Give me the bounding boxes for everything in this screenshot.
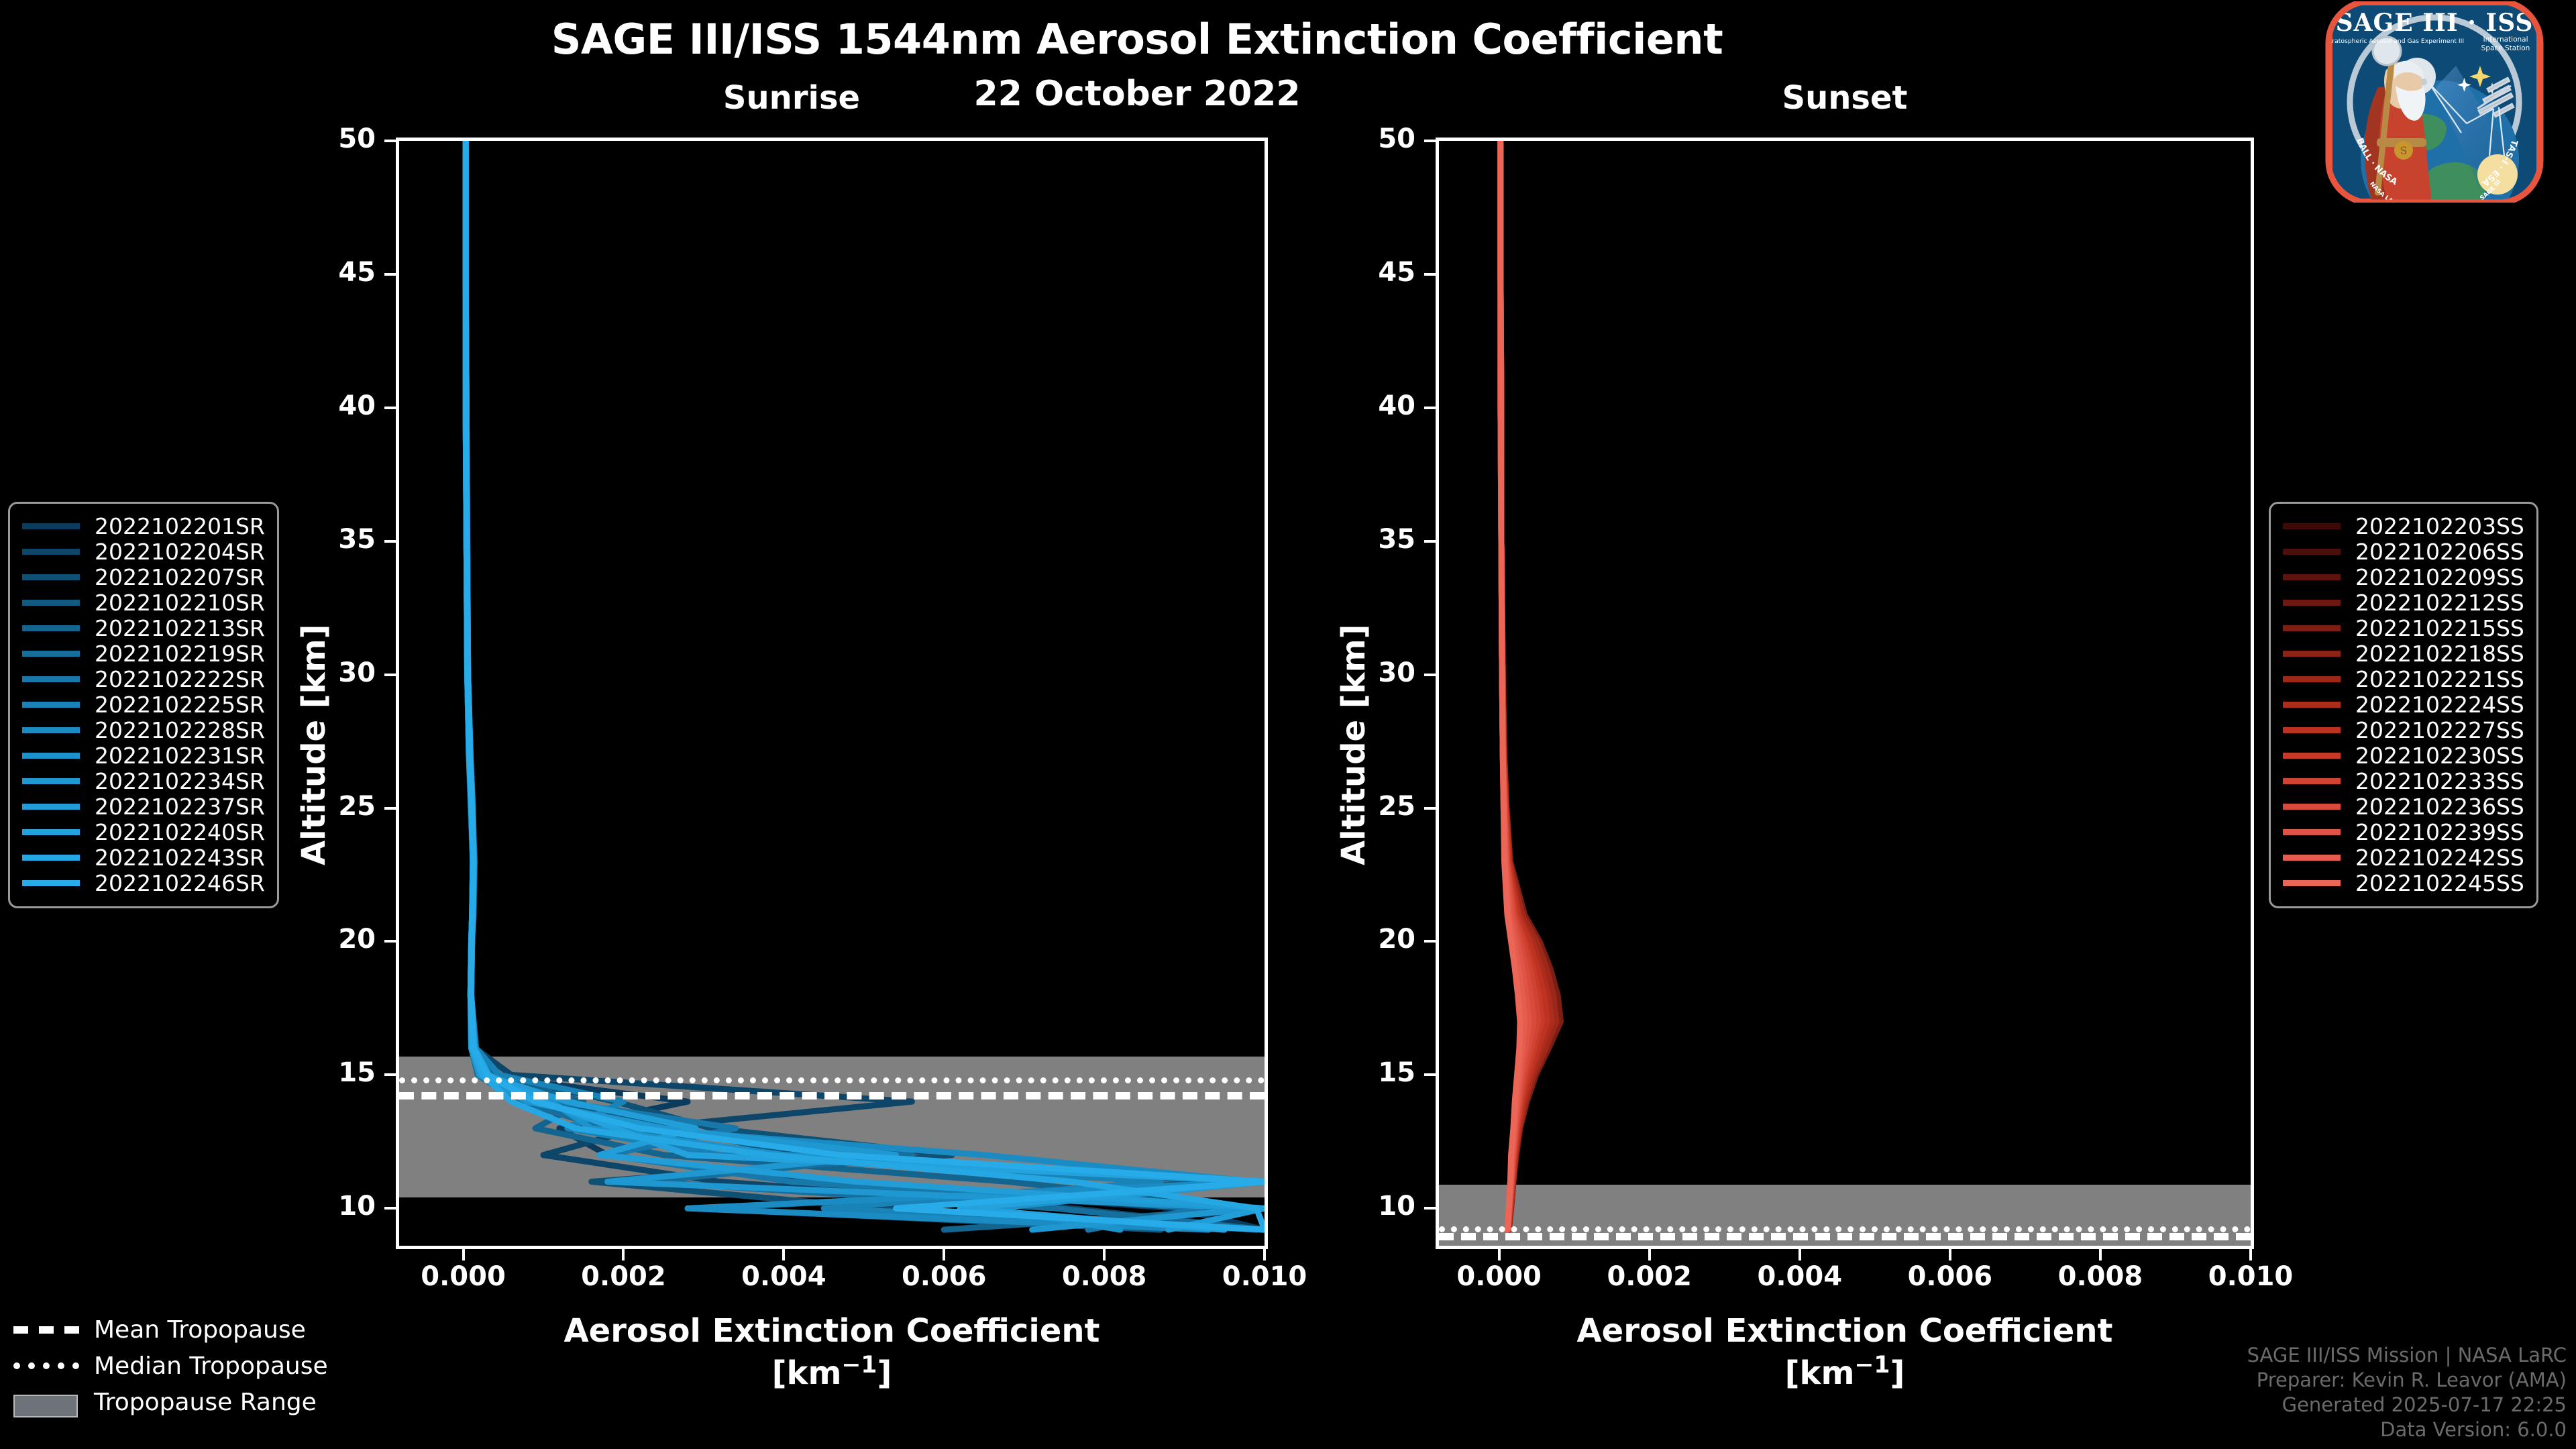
sunset-mean-tropopause-line	[1439, 1233, 2251, 1240]
sunset-legend-item[interactable]: 2022102224SS	[2283, 692, 2524, 717]
line-swatch-icon	[2283, 855, 2341, 861]
sunset-legend-item[interactable]: 2022102236SS	[2283, 794, 2524, 819]
y-axis-tick-label: 40	[309, 390, 376, 421]
legend-row-median-tropopause: Median Tropopause	[13, 1348, 328, 1384]
profile-line	[466, 141, 1265, 1230]
sunrise-legend-label: 2022102234SR	[95, 768, 265, 794]
sunset-legend-label: 2022102206SS	[2355, 539, 2524, 565]
profile-line	[466, 141, 1265, 1230]
sunset-legend-label: 2022102239SS	[2355, 819, 2524, 845]
sunrise-legend-item[interactable]: 2022102210SR	[22, 590, 265, 615]
sunset-legend-item[interactable]: 2022102218SS	[2283, 641, 2524, 666]
sunrise-legend-item[interactable]: 2022102243SR	[22, 845, 265, 870]
sunrise-legend-label: 2022102243SR	[95, 845, 265, 871]
profile-line	[466, 141, 1200, 1230]
profile-line	[466, 141, 1256, 1230]
line-swatch-icon	[22, 702, 80, 708]
x-axis-tick-mark	[1263, 1249, 1266, 1260]
line-swatch-icon	[2283, 676, 2341, 682]
line-swatch-icon	[2283, 880, 2341, 886]
sunset-legend-item[interactable]: 2022102227SS	[2283, 717, 2524, 743]
sunrise-x-axis-units: [km−1]	[396, 1351, 1268, 1393]
sunset-y-axis-title: Altitude [km]	[1335, 624, 1373, 865]
y-axis-tick-mark	[384, 1073, 396, 1076]
line-swatch-icon	[22, 523, 80, 529]
credits-generated: Generated 2025-07-17 22:25	[2247, 1393, 2567, 1417]
sunset-legend-item[interactable]: 2022102230SS	[2283, 743, 2524, 768]
sunrise-event-legend[interactable]: 2022102201SR2022102204SR2022102207SR2022…	[8, 502, 279, 908]
line-swatch-icon	[22, 880, 80, 886]
x-axis-tick-mark	[2099, 1249, 2102, 1260]
sunset-x-axis-title-line1: Aerosol Extinction Coefficient	[1436, 1311, 2254, 1351]
profile-line	[466, 141, 1265, 1230]
y-axis-tick-label: 40	[1348, 390, 1415, 421]
credits-preparer: Preparer: Kevin R. Leavor (AMA)	[2247, 1368, 2567, 1393]
credits-mission: SAGE III/ISS Mission | NASA LaRC	[2247, 1343, 2567, 1368]
line-swatch-icon	[22, 574, 80, 580]
sunrise-x-axis-title: Aerosol Extinction Coefficient [km−1]	[396, 1311, 1268, 1393]
y-axis-tick-mark	[1424, 140, 1436, 142]
line-swatch-icon	[2283, 549, 2341, 555]
x-axis-tick-label: 0.008	[2027, 1261, 2174, 1292]
sunset-x-axis-units: [km−1]	[1436, 1351, 2254, 1393]
x-axis-tick-mark	[1949, 1249, 1951, 1260]
x-axis-tick-label: 0.000	[390, 1261, 537, 1292]
sunrise-legend-item[interactable]: 2022102246SR	[22, 870, 265, 896]
y-axis-tick-label: 35	[1348, 524, 1415, 555]
patch-subtitle-left: Stratospheric Aerosol and Gas Experiment…	[2326, 38, 2464, 45]
profile-line	[466, 141, 1265, 1230]
y-axis-tick-mark	[1424, 540, 1436, 543]
sunrise-legend-item[interactable]: 2022102231SR	[22, 743, 265, 768]
x-axis-tick-label: 0.002	[549, 1261, 697, 1292]
sunrise-legend-label: 2022102222SR	[95, 666, 265, 692]
sunset-legend-item[interactable]: 2022102209SS	[2283, 564, 2524, 590]
sunset-legend-item[interactable]: 2022102239SS	[2283, 819, 2524, 845]
line-swatch-icon	[22, 727, 80, 733]
sunset-legend-label: 2022102218SS	[2355, 641, 2524, 667]
patch-subtitle-right-line1: International	[2483, 36, 2528, 44]
sage-iii-iss-mission-patch-icon: S SAGE III · ISS Stratospheric Aerosol a…	[2298, 1, 2571, 203]
legend-label-tropopause-range: Tropopause Range	[94, 1389, 317, 1416]
y-axis-tick-mark	[1424, 1207, 1436, 1210]
sunset-legend-label: 2022102245SS	[2355, 870, 2524, 896]
sunrise-legend-item[interactable]: 2022102204SR	[22, 539, 265, 564]
profile-line	[466, 141, 1256, 1230]
sunrise-legend-item[interactable]: 2022102240SR	[22, 819, 265, 845]
sunrise-legend-label: 2022102201SR	[95, 513, 265, 539]
sunset-legend-label: 2022102221SS	[2355, 666, 2524, 692]
sunrise-legend-label: 2022102219SR	[95, 641, 265, 667]
filled-band-icon	[13, 1395, 79, 1409]
y-axis-tick-mark	[384, 674, 396, 676]
x-axis-tick-mark	[943, 1249, 945, 1260]
y-axis-tick-mark	[1424, 273, 1436, 276]
credits-block: SAGE III/ISS Mission | NASA LaRC Prepare…	[2247, 1343, 2567, 1442]
sunrise-legend-label: 2022102204SR	[95, 539, 265, 565]
patch-subtitle-right-line2: Space Station	[2481, 44, 2530, 52]
sunrise-legend-item[interactable]: 2022102219SR	[22, 641, 265, 666]
sunset-legend-label: 2022102215SS	[2355, 615, 2524, 641]
x-axis-tick-label: 0.008	[1030, 1261, 1178, 1292]
y-axis-tick-label: 15	[309, 1057, 376, 1088]
sunrise-legend-item[interactable]: 2022102228SR	[22, 717, 265, 743]
x-axis-tick-label: 0.006	[870, 1261, 1018, 1292]
line-swatch-icon	[2283, 753, 2341, 759]
sunrise-legend-label: 2022102228SR	[95, 717, 265, 743]
x-axis-tick-mark	[1498, 1249, 1501, 1260]
y-axis-tick-mark	[384, 807, 396, 810]
sunset-legend-item[interactable]: 2022102245SS	[2283, 870, 2524, 896]
sunrise-legend-label: 2022102210SR	[95, 590, 265, 616]
line-swatch-icon	[2283, 600, 2341, 606]
y-axis-tick-mark	[384, 273, 396, 276]
line-swatch-icon	[2283, 829, 2341, 835]
legend-row-tropopause-range: Tropopause Range	[13, 1384, 328, 1420]
profile-line	[1501, 141, 1520, 1230]
sunrise-legend-label: 2022102240SR	[95, 819, 265, 845]
line-swatch-icon	[2283, 574, 2341, 580]
y-axis-tick-label: 10	[1348, 1191, 1415, 1222]
x-axis-tick-label: 0.010	[2177, 1261, 2324, 1292]
y-axis-tick-label: 50	[1348, 123, 1415, 154]
sunrise-legend-item[interactable]: 2022102234SR	[22, 768, 265, 794]
sunrise-legend-label: 2022102207SR	[95, 564, 265, 590]
sunrise-panel-title: Sunrise	[604, 79, 979, 117]
profile-line	[466, 141, 1265, 1230]
sunrise-x-axis-title-line1: Aerosol Extinction Coefficient	[396, 1311, 1268, 1351]
sunset-panel-title: Sunset	[1657, 79, 2033, 117]
x-axis-tick-mark	[782, 1249, 785, 1260]
sunset-legend-label: 2022102233SS	[2355, 768, 2524, 794]
line-swatch-icon	[22, 625, 80, 631]
sunrise-legend-label: 2022102231SR	[95, 743, 265, 769]
x-axis-tick-label: 0.004	[710, 1261, 857, 1292]
sunset-legend-item[interactable]: 2022102212SS	[2283, 590, 2524, 615]
sunset-x-axis-title: Aerosol Extinction Coefficient [km−1]	[1436, 1311, 2254, 1393]
line-swatch-icon	[2283, 651, 2341, 657]
line-swatch-icon	[22, 855, 80, 861]
x-axis-tick-label: 0.006	[1876, 1261, 2024, 1292]
y-axis-tick-mark	[384, 540, 396, 543]
x-axis-tick-mark	[1799, 1249, 1801, 1260]
sunset-legend-label: 2022102227SS	[2355, 717, 2524, 743]
line-swatch-icon	[2283, 523, 2341, 529]
sunrise-mean-tropopause-line	[399, 1092, 1265, 1099]
sunset-legend-item[interactable]: 2022102242SS	[2283, 845, 2524, 870]
line-swatch-icon	[22, 804, 80, 810]
sunset-event-legend[interactable]: 2022102203SS2022102206SS2022102209SS2022…	[2269, 502, 2538, 908]
profile-line	[466, 141, 1265, 1230]
sunset-legend-item[interactable]: 2022102215SS	[2283, 615, 2524, 641]
line-swatch-icon	[22, 778, 80, 784]
x-axis-tick-mark	[622, 1249, 625, 1260]
y-axis-tick-mark	[1424, 1073, 1436, 1076]
y-axis-tick-label: 45	[1348, 257, 1415, 288]
line-swatch-icon	[2283, 727, 2341, 733]
legend-label-mean-tropopause: Mean Tropopause	[94, 1316, 306, 1344]
page-title: SAGE III/ISS 1544nm Aerosol Extinction C…	[0, 15, 2274, 64]
credits-data-version: Data Version: 6.0.0	[2247, 1417, 2567, 1442]
y-axis-tick-label: 15	[1348, 1057, 1415, 1088]
line-swatch-icon	[22, 753, 80, 759]
profile-line	[466, 141, 1224, 1230]
line-swatch-icon	[2283, 702, 2341, 708]
sunset-plot-area	[1436, 138, 2254, 1249]
y-axis-tick-label: 35	[309, 524, 376, 555]
profile-line	[466, 141, 1256, 1230]
line-swatch-icon	[2283, 804, 2341, 810]
line-swatch-icon	[22, 676, 80, 682]
sunrise-legend-item[interactable]: 2022102225SR	[22, 692, 265, 717]
line-swatch-icon	[22, 549, 80, 555]
patch-title: SAGE III · ISS	[2336, 9, 2534, 37]
sunrise-legend-item[interactable]: 2022102201SR	[22, 513, 265, 539]
sunrise-y-axis-title: Altitude [km]	[295, 624, 333, 865]
x-axis-tick-label: 0.000	[1426, 1261, 1573, 1292]
sunset-legend-label: 2022102224SS	[2355, 692, 2524, 718]
x-axis-tick-label: 0.002	[1576, 1261, 1723, 1292]
y-axis-tick-mark	[384, 940, 396, 943]
x-axis-tick-mark	[2249, 1249, 2252, 1260]
sunset-legend-item[interactable]: 2022102203SS	[2283, 513, 2524, 539]
x-axis-tick-mark	[462, 1249, 465, 1260]
x-axis-tick-mark	[1648, 1249, 1651, 1260]
sunset-legend-label: 2022102209SS	[2355, 564, 2524, 590]
dotted-line-icon	[13, 1358, 79, 1373]
sunrise-legend-label: 2022102237SR	[95, 794, 265, 820]
legend-label-median-tropopause: Median Tropopause	[94, 1352, 328, 1380]
sunrise-plot-area	[396, 138, 1268, 1249]
sunrise-legend-label: 2022102225SR	[95, 692, 265, 718]
y-axis-tick-mark	[1424, 940, 1436, 943]
sunset-median-tropopause-line	[1439, 1226, 2251, 1232]
figure-canvas: SAGE III/ISS 1544nm Aerosol Extinction C…	[0, 0, 2576, 1449]
sunrise-legend-label: 2022102213SR	[95, 615, 265, 641]
y-axis-tick-mark	[1424, 407, 1436, 409]
profile-line	[466, 141, 1265, 1230]
sunset-legend-label: 2022102230SS	[2355, 743, 2524, 769]
dashed-line-icon	[13, 1322, 79, 1337]
y-axis-tick-mark	[1424, 674, 1436, 676]
line-swatch-icon	[2283, 625, 2341, 631]
line-swatch-icon	[22, 651, 80, 657]
y-axis-tick-label: 10	[309, 1191, 376, 1222]
x-axis-tick-label: 0.004	[1726, 1261, 1874, 1292]
sunset-profile-curves	[1439, 141, 2251, 1246]
y-axis-tick-mark	[384, 1207, 396, 1210]
sunset-legend-label: 2022102242SS	[2355, 845, 2524, 871]
sunset-legend-item[interactable]: 2022102206SS	[2283, 539, 2524, 564]
sunset-legend-label: 2022102212SS	[2355, 590, 2524, 616]
sunrise-legend-item[interactable]: 2022102222SR	[22, 666, 265, 692]
profile-line	[466, 141, 1265, 1230]
profile-line	[466, 141, 1256, 1230]
x-axis-tick-mark	[1103, 1249, 1106, 1260]
line-swatch-icon	[22, 829, 80, 835]
tropopause-legend: Mean Tropopause Median Tropopause Tropop…	[13, 1311, 328, 1420]
y-axis-tick-mark	[384, 140, 396, 142]
profile-line	[466, 141, 1265, 1230]
y-axis-tick-label: 45	[309, 257, 376, 288]
y-axis-tick-label: 20	[309, 924, 376, 955]
sunset-legend-label: 2022102236SS	[2355, 794, 2524, 820]
sunset-legend-label: 2022102203SS	[2355, 513, 2524, 539]
sunrise-median-tropopause-line	[399, 1077, 1265, 1083]
sunrise-legend-item[interactable]: 2022102207SR	[22, 564, 265, 590]
sunset-legend-item[interactable]: 2022102221SS	[2283, 666, 2524, 692]
x-axis-tick-label: 0.010	[1191, 1261, 1338, 1292]
sunrise-legend-label: 2022102246SR	[95, 870, 265, 896]
y-axis-tick-label: 50	[309, 123, 376, 154]
legend-row-mean-tropopause: Mean Tropopause	[13, 1311, 328, 1348]
sunrise-legend-item[interactable]: 2022102237SR	[22, 794, 265, 819]
line-swatch-icon	[22, 600, 80, 606]
line-swatch-icon	[2283, 778, 2341, 784]
y-axis-tick-mark	[384, 407, 396, 409]
y-axis-tick-label: 20	[1348, 924, 1415, 955]
svg-text:S: S	[2400, 144, 2408, 157]
sunset-legend-item[interactable]: 2022102233SS	[2283, 768, 2524, 794]
y-axis-tick-mark	[1424, 807, 1436, 810]
sunrise-legend-item[interactable]: 2022102213SR	[22, 615, 265, 641]
